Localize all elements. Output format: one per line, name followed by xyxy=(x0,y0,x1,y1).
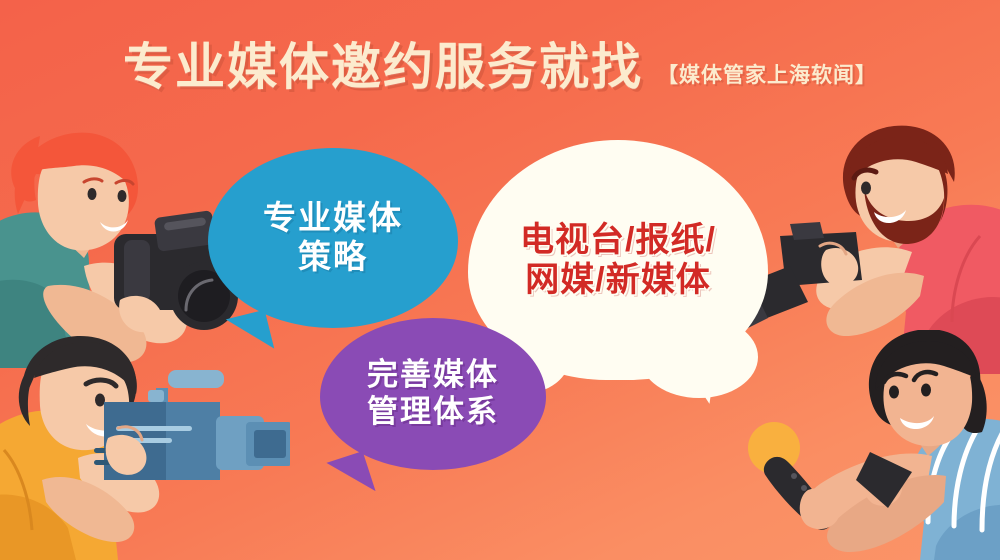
bubble-media-management-system[interactable]: 完善媒体 管理体系 xyxy=(320,318,546,470)
eye xyxy=(921,384,931,397)
eye xyxy=(889,386,899,399)
illustration-videographer-man xyxy=(0,330,290,560)
bubble-white-line-1: 电视台/报纸/ xyxy=(520,220,716,260)
bubble-blue-line-1: 专业媒体 xyxy=(263,199,403,238)
brand-name: 【媒体管家上海软闻】 xyxy=(657,65,877,92)
bubble-purple-line-1: 完善媒体 xyxy=(367,357,499,394)
eye xyxy=(88,188,97,200)
bubble-tail xyxy=(326,451,375,503)
eye xyxy=(95,394,105,407)
bubble-blue-line-2: 策略 xyxy=(298,238,368,277)
illustration-reporter-woman xyxy=(716,330,1000,560)
poster-headline: 专业媒体邀约服务就找 【媒体管家上海软闻】 xyxy=(0,42,1000,92)
eye xyxy=(861,182,871,195)
camera-handle xyxy=(168,370,224,388)
eye xyxy=(118,190,127,202)
camera-viewfinder xyxy=(790,222,824,240)
bubble-purple-line-2: 管理体系 xyxy=(367,394,499,431)
bubble-tail xyxy=(680,366,714,404)
bubble-white-line-2: 网媒/新媒体 xyxy=(525,260,710,300)
bubble-professional-media-strategy[interactable]: 专业媒体 策略 xyxy=(208,148,458,328)
page-title: 专业媒体邀约服务就找 xyxy=(123,42,643,92)
promotional-poster: 专业媒体邀约服务就找 【媒体管家上海软闻】 xyxy=(0,0,1000,560)
